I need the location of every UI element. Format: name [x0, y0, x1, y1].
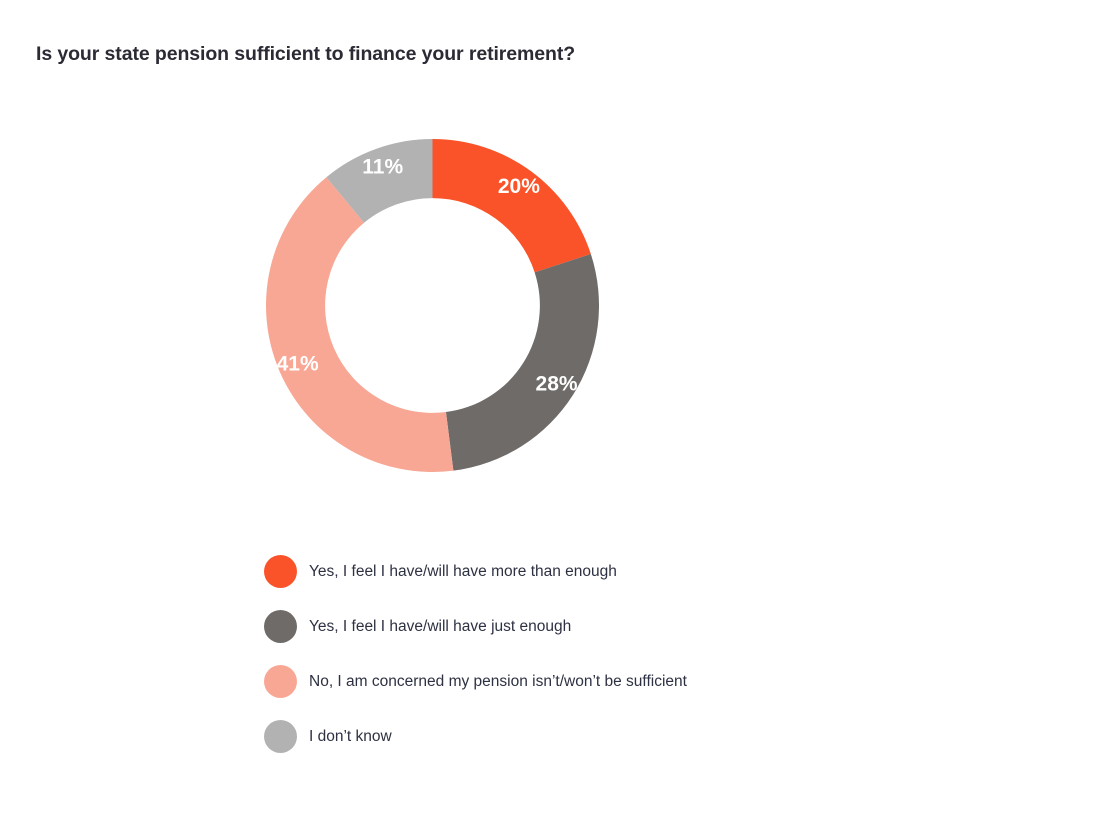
donut-slice[interactable] — [266, 177, 453, 472]
legend-item-label: I don’t know — [309, 728, 392, 746]
legend-item[interactable]: I don’t know — [264, 709, 964, 764]
legend-item[interactable]: No, I am concerned my pension isn’t/won’… — [264, 654, 964, 709]
legend-swatch-icon — [264, 610, 297, 643]
donut-chart: 20%28%41%11% — [266, 139, 599, 472]
donut-slice-label: 20% — [498, 175, 540, 198]
donut-slice-group — [266, 139, 599, 472]
legend-swatch-icon — [264, 665, 297, 698]
donut-slice[interactable] — [433, 139, 591, 272]
legend-swatch-icon — [264, 720, 297, 753]
legend-item[interactable]: Yes, I feel I have/will have just enough — [264, 599, 964, 654]
legend-swatch-icon — [264, 555, 297, 588]
donut-slice[interactable] — [446, 254, 599, 471]
donut-slice-label: 11% — [362, 156, 403, 179]
chart-legend: Yes, I feel I have/will have more than e… — [264, 544, 964, 764]
donut-chart-svg: 20%28%41%11% — [266, 139, 599, 472]
donut-slice-label: 28% — [536, 373, 578, 396]
page-title: Is your state pension sufficient to fina… — [36, 43, 575, 66]
legend-item-label: Yes, I feel I have/will have just enough — [309, 618, 571, 636]
donut-slice-label: 41% — [277, 352, 319, 375]
legend-item-label: No, I am concerned my pension isn’t/won’… — [309, 673, 687, 691]
legend-item[interactable]: Yes, I feel I have/will have more than e… — [264, 544, 964, 599]
legend-item-label: Yes, I feel I have/will have more than e… — [309, 563, 617, 581]
